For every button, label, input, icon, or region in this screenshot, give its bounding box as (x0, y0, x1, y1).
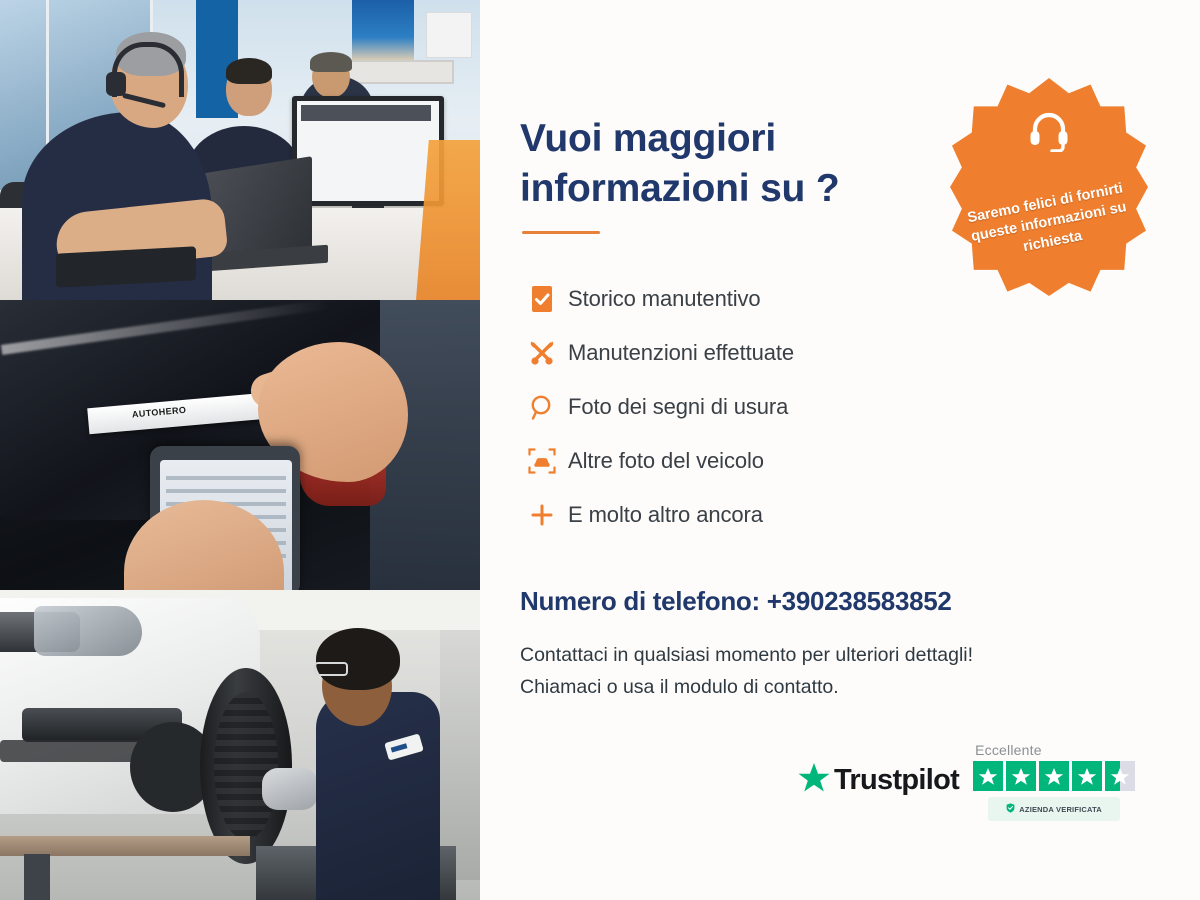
headline-line-1: Vuoi maggiori (520, 117, 776, 160)
headset-icon (1026, 108, 1072, 157)
autohero-brand-auto: AUTOHERO (131, 405, 186, 420)
trustpilot-star-icon (798, 762, 830, 798)
feature-item-manutenzioni-effettuate: Manutenzioni effettuate (516, 326, 956, 380)
rating-star-4 (1072, 761, 1102, 791)
rating-star-2 (1006, 761, 1036, 791)
trustpilot-rating: Eccellente (973, 742, 1135, 821)
agent-background-hair (310, 52, 352, 72)
feature-item-molto-altro: E molto altro ancora (516, 488, 956, 542)
mechanic-glove (262, 768, 318, 810)
workshop-cabinet (440, 630, 480, 880)
feature-label: Manutenzioni effettuate (568, 340, 794, 366)
feature-item-storico-manutentivo: Storico manutentivo (516, 272, 956, 326)
contact-description-line-1: Contattaci in qualsiasi momento per ulte… (520, 640, 1140, 672)
vehicle-lift-arm (0, 836, 250, 856)
plus-icon (516, 501, 568, 529)
magnifier-icon (516, 393, 568, 421)
feature-label: Altre foto del veicolo (568, 448, 764, 474)
trustpilot-logo: Trustpilot (798, 762, 959, 798)
service-promise-badge: Saremo felici di fornirti queste informa… (950, 78, 1148, 296)
verified-company-badge: AZIENDA VERIFICATA (988, 797, 1120, 821)
document-check-icon (516, 284, 568, 314)
photo-column: AUTOHERO (0, 0, 480, 900)
wall-notice (426, 12, 472, 58)
car-headlight (34, 606, 142, 656)
headline-line-2: informazioni su ? (520, 167, 839, 210)
contact-description: Contattaci in qualsiasi momento per ulte… (520, 640, 1140, 703)
trustpilot-rating-label: Eccellente (975, 742, 1042, 758)
call-center-agents-photo (0, 0, 480, 300)
trustpilot-stars (973, 761, 1135, 791)
promo-page: AUTOHERO (0, 0, 1200, 900)
feature-item-foto-segni-usura: Foto dei segni di usura (516, 380, 956, 434)
feature-list: Storico manutentivo Manutenzi (516, 272, 956, 542)
phone-heading: Numero di telefono: +390238583852 (520, 586, 952, 617)
rating-star-3 (1039, 761, 1069, 791)
rating-star-1 (973, 761, 1003, 791)
verified-company-text: AZIENDA VERIFICATA (1019, 805, 1102, 814)
autohero-ruler-label: AUTOHERO (131, 405, 186, 420)
shield-check-icon (1006, 800, 1015, 818)
wall-poster (352, 0, 414, 62)
feature-label: Foto dei segni di usura (568, 394, 788, 420)
mechanic-body (316, 692, 440, 900)
trustpilot-wordmark: Trustpilot (834, 764, 959, 797)
desktop-monitor (292, 96, 444, 206)
crossed-tools-icon (516, 338, 568, 368)
rating-star-5-half (1105, 761, 1135, 791)
feature-label: Storico manutentivo (568, 286, 761, 312)
vehicle-inspection-photo: AUTOHERO (0, 300, 480, 590)
mechanic-glasses (314, 662, 348, 676)
agent-second-hair (226, 58, 272, 84)
page-title: Vuoi maggiori informazioni su ? (520, 114, 950, 214)
workshop-mechanic-photo (0, 590, 480, 900)
car-scan-icon (516, 446, 568, 476)
title-accent-rule (522, 231, 600, 234)
feature-label: E molto altro ancora (568, 502, 763, 528)
contact-description-line-2: Chiamaci o usa il modulo di contatto. (520, 672, 1140, 704)
vehicle-lift-post (24, 854, 50, 900)
mechanic-hair (316, 628, 400, 690)
car-wheel (200, 668, 292, 864)
content-panel: Vuoi maggiori informazioni su ? Saremo f… (480, 0, 1200, 900)
trustpilot-widget[interactable]: Trustpilot Eccellente (798, 742, 1135, 821)
feature-item-altre-foto-veicolo: Altre foto del veicolo (516, 434, 956, 488)
